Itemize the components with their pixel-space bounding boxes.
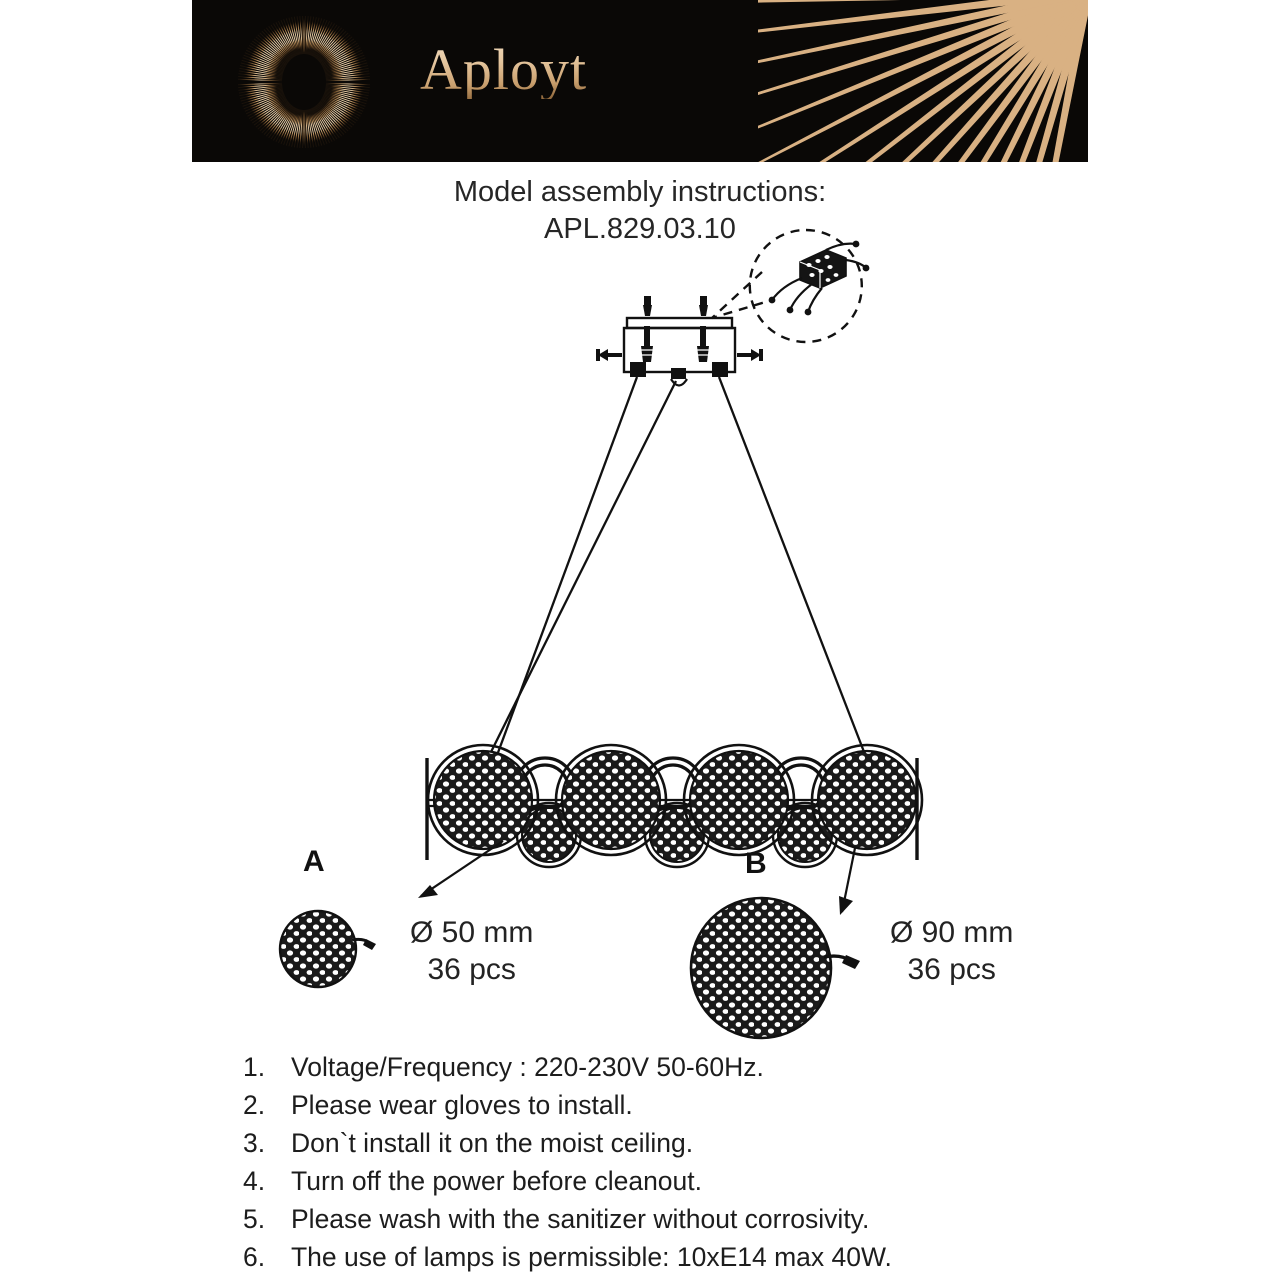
list-item-text: The use of lamps is permissible: 10xE14 … (291, 1240, 1063, 1274)
page-title: Model assembly instructions: (0, 174, 1280, 211)
screw-icon (699, 296, 708, 316)
part-b-diameter: Ø 90 mm (890, 914, 1013, 951)
list-item: 6. The use of lamps is permissible: 10xE… (243, 1240, 1063, 1274)
title-block: Model assembly instructions: APL.829.03.… (0, 174, 1280, 248)
list-item-text: Turn off the power before cleanout. (291, 1164, 1063, 1198)
part-label-a: A (303, 845, 325, 879)
list-item-text: Voltage/Frequency : 220-230V 50-60Hz. (291, 1050, 1063, 1084)
callout-leader-a (418, 841, 503, 898)
suspension-cables (487, 377, 866, 760)
direction-arrow-icon (596, 349, 622, 361)
pendant-ring-chandelier-icon (427, 745, 922, 867)
part-a-sphere (280, 911, 376, 987)
radiating-rays-icon (758, 0, 1088, 162)
part-a-spec: Ø 50 mm 36 pcs (410, 914, 533, 988)
wall-anchor-icon (697, 326, 709, 362)
list-item: 3. Don`t install it on the moist ceiling… (243, 1126, 1063, 1160)
list-item-number: 4. (243, 1164, 291, 1198)
part-a-diameter: Ø 50 mm (410, 914, 533, 951)
brand-wordmark: Aployt (420, 41, 587, 99)
list-item: 4. Turn off the power before cleanout. (243, 1164, 1063, 1198)
list-item: 5. Please wash with the sanitizer withou… (243, 1202, 1063, 1236)
list-item-text: Don`t install it on the moist ceiling. (291, 1126, 1063, 1160)
list-item-text: Please wear gloves to install. (291, 1088, 1063, 1122)
part-label-b: B (745, 847, 767, 881)
list-item: 2. Please wear gloves to install. (243, 1088, 1063, 1122)
brand-header-banner: Aployt (192, 0, 1088, 162)
sunburst-icon (236, 14, 372, 150)
screw-icon (643, 296, 652, 316)
part-a-quantity: 36 pcs (410, 951, 533, 988)
direction-arrow-icon (737, 349, 763, 361)
list-item: 1. Voltage/Frequency : 220-230V 50-60Hz. (243, 1050, 1063, 1084)
list-item-number: 6. (243, 1240, 291, 1274)
ceiling-mount-bracket-icon (596, 296, 763, 386)
list-item-number: 5. (243, 1202, 291, 1236)
model-code: APL.829.03.10 (0, 211, 1280, 248)
list-item-number: 3. (243, 1126, 291, 1160)
list-item-number: 2. (243, 1088, 291, 1122)
list-item-number: 1. (243, 1050, 291, 1084)
part-b-spec: Ø 90 mm 36 pcs (890, 914, 1013, 988)
part-b-sphere (691, 898, 860, 1038)
list-item-text: Please wash with the sanitizer without c… (291, 1202, 1063, 1236)
mesh-sphere-small-icon (517, 803, 837, 867)
instruction-list: 1. Voltage/Frequency : 220-230V 50-60Hz.… (243, 1050, 1063, 1278)
callout-leader-b (839, 848, 855, 915)
mesh-sphere-large-icon (428, 745, 922, 855)
part-b-quantity: 36 pcs (890, 951, 1013, 988)
wall-anchor-icon (641, 326, 653, 362)
